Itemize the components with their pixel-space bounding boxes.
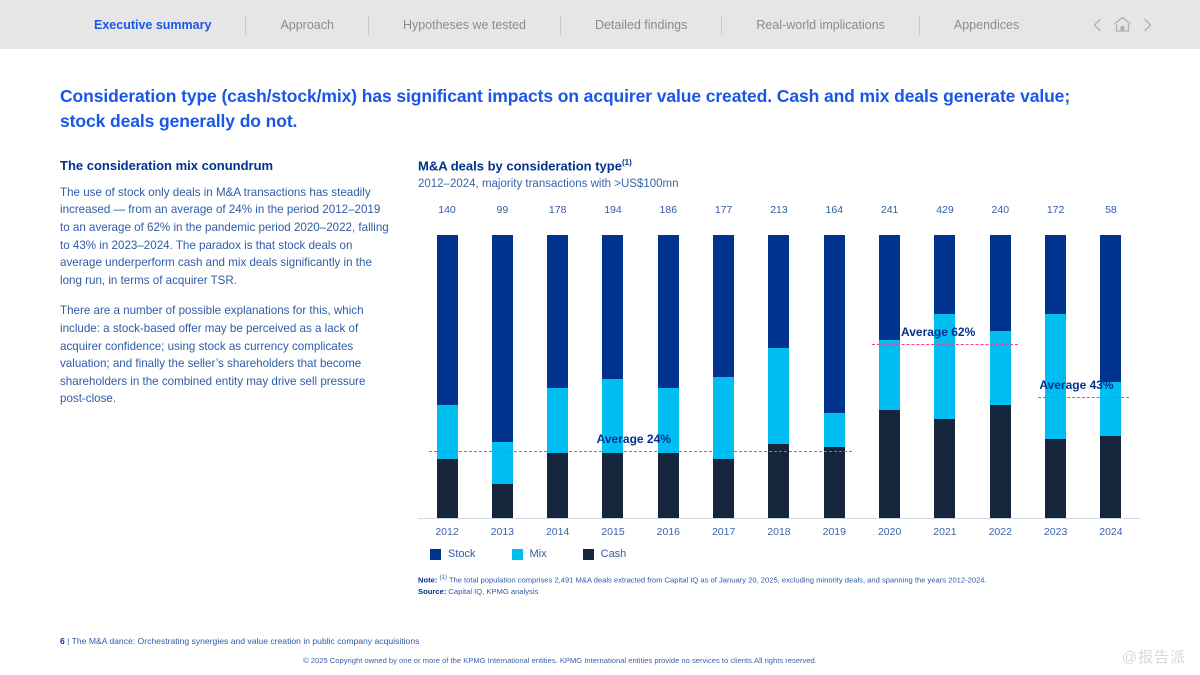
bar-segment-mix	[824, 413, 845, 447]
chevron-left-icon[interactable]	[1093, 18, 1102, 32]
bar-stack	[934, 235, 955, 518]
bar-segment-cash	[1045, 439, 1066, 518]
slide-page: Consideration type (cash/stock/mix) has …	[0, 84, 1200, 598]
x-axis-tick: 2024	[1088, 526, 1134, 538]
bar-stack	[768, 235, 789, 518]
footer-doc-line: 6 | The M&A dance: Orchestrating synergi…	[60, 636, 1140, 646]
bar-segment-stock	[658, 235, 679, 388]
x-axis-ticks: 2012201320142015201620172018201920202021…	[418, 526, 1140, 538]
bar-segment-cash	[768, 444, 789, 518]
x-axis-tick: 2021	[922, 526, 968, 538]
bar-stack	[547, 235, 568, 518]
chart-legend: StockMixCash	[418, 548, 1140, 560]
footer-copyright: © 2025 Copyright owned by one or more of…	[60, 656, 1140, 665]
bar-segment-stock	[934, 235, 955, 314]
bar-stack	[437, 235, 458, 518]
average-reference-line	[872, 344, 1019, 345]
bar-segment-cash	[547, 453, 568, 518]
legend-label: Stock	[448, 548, 476, 560]
bar-stack	[658, 235, 679, 518]
bar-column[interactable]: 241	[867, 204, 913, 518]
bar-segment-stock	[602, 235, 623, 379]
bar-stack	[713, 235, 734, 518]
legend-swatch-icon	[583, 549, 594, 560]
nav-item-executive-summary[interactable]: Executive summary	[60, 15, 246, 35]
legend-swatch-icon	[512, 549, 523, 560]
bar-segment-stock	[492, 235, 513, 442]
bar-column[interactable]: 194	[590, 204, 636, 518]
bar-segment-cash	[824, 447, 845, 518]
average-label: Average 24%	[597, 432, 671, 446]
bar-column[interactable]: 177	[701, 204, 747, 518]
page-footer: 6 | The M&A dance: Orchestrating synergi…	[0, 636, 1200, 675]
nav-items: Executive summaryApproachHypotheses we t…	[60, 15, 1093, 35]
bar-segment-cash	[437, 459, 458, 518]
x-axis-tick: 2020	[867, 526, 913, 538]
bar-value-label: 58	[1088, 204, 1134, 216]
bar-column[interactable]: 429	[922, 204, 968, 518]
bar-group: 1409917819418617721316424142924017258	[418, 204, 1140, 518]
bar-segment-mix	[768, 348, 789, 444]
nav-item-detailed-findings[interactable]: Detailed findings	[561, 15, 722, 35]
bar-column[interactable]: 213	[756, 204, 802, 518]
x-axis-tick: 2015	[590, 526, 636, 538]
bar-stack	[1045, 235, 1066, 518]
bar-value-label: 172	[1033, 204, 1079, 216]
x-axis-tick: 2018	[756, 526, 802, 538]
chart-title-text: M&A deals by consideration type	[418, 158, 622, 173]
legend-swatch-icon	[430, 549, 441, 560]
bar-value-label: 178	[535, 204, 581, 216]
bar-column[interactable]: 58	[1088, 204, 1134, 518]
note-footnote-marker: (1)	[440, 575, 447, 581]
nav-item-approach[interactable]: Approach	[246, 15, 369, 35]
chart-title: M&A deals by consideration type(1)	[418, 158, 1140, 173]
page-title: Consideration type (cash/stock/mix) has …	[60, 84, 1105, 134]
source-label: Source:	[418, 587, 446, 596]
note-text: The total population comprises 2,491 M&A…	[449, 576, 987, 585]
nav-item-hypotheses-we-tested[interactable]: Hypotheses we tested	[369, 15, 561, 35]
bar-stack	[990, 235, 1011, 518]
bar-segment-stock	[768, 235, 789, 348]
note-label: Note:	[418, 576, 437, 585]
left-text-column: The consideration mix conundrum The use …	[60, 158, 410, 598]
content-area: The consideration mix conundrum The use …	[60, 158, 1140, 598]
bar-value-label: 213	[756, 204, 802, 216]
watermark: @报告派	[1122, 646, 1186, 667]
bar-value-label: 194	[590, 204, 636, 216]
x-axis-tick: 2019	[811, 526, 857, 538]
bar-value-label: 164	[811, 204, 857, 216]
bar-value-label: 99	[479, 204, 525, 216]
x-axis-tick: 2017	[701, 526, 747, 538]
bar-segment-mix	[492, 442, 513, 484]
bar-segment-cash	[879, 410, 900, 518]
bar-segment-stock	[1100, 235, 1121, 382]
bar-column[interactable]: 172	[1033, 204, 1079, 518]
chart-note: Note: (1) The total population comprises…	[418, 574, 1140, 598]
footer-separator: |	[67, 636, 69, 646]
nav-item-appendices[interactable]: Appendices	[920, 15, 1053, 35]
bar-segment-cash	[658, 453, 679, 518]
page-number: 6	[60, 636, 65, 646]
bar-segment-stock	[879, 235, 900, 340]
bar-segment-mix	[879, 340, 900, 411]
chevron-right-icon[interactable]	[1143, 18, 1152, 32]
bar-segment-cash	[492, 484, 513, 518]
bar-segment-mix	[713, 377, 734, 459]
legend-label: Mix	[530, 548, 547, 560]
chart-subtitle: 2012–2024, majority transactions with >U…	[418, 178, 1140, 190]
chart-panel: M&A deals by consideration type(1) 2012–…	[410, 158, 1140, 598]
bar-segment-cash	[1100, 436, 1121, 518]
bar-segment-stock	[437, 235, 458, 405]
bar-segment-stock	[547, 235, 568, 388]
bar-segment-mix	[1045, 314, 1066, 439]
average-reference-line	[1038, 397, 1129, 398]
bar-stack	[602, 235, 623, 518]
body-paragraph-2: There are a number of possible explanati…	[60, 302, 392, 408]
x-axis-tick: 2014	[535, 526, 581, 538]
bar-column[interactable]: 140	[424, 204, 470, 518]
legend-item-stock[interactable]: Stock	[430, 548, 476, 560]
bar-stack	[492, 235, 513, 518]
source-text: Capital IQ, KPMG analysis	[448, 587, 538, 596]
bar-segment-stock	[713, 235, 734, 377]
average-label: Average 43%	[1039, 378, 1113, 392]
x-axis-tick: 2023	[1033, 526, 1079, 538]
chart-plot-area: 1409917819418617721316424142924017258 Av…	[418, 204, 1140, 519]
bar-segment-mix	[990, 331, 1011, 405]
source-line: Source: Capital IQ, KPMG analysis	[418, 586, 1140, 598]
bar-value-label: 177	[701, 204, 747, 216]
bar-value-label: 429	[922, 204, 968, 216]
average-reference-line	[429, 451, 852, 452]
x-axis-tick: 2016	[645, 526, 691, 538]
x-axis-tick: 2022	[977, 526, 1023, 538]
section-heading: The consideration mix conundrum	[60, 158, 392, 173]
nav-controls	[1093, 16, 1152, 33]
bar-segment-cash	[934, 419, 955, 518]
bar-segment-cash	[713, 459, 734, 518]
bar-column[interactable]: 178	[535, 204, 581, 518]
top-navigation-bar: Executive summaryApproachHypotheses we t…	[0, 0, 1200, 49]
average-label: Average 62%	[901, 325, 975, 339]
legend-item-mix[interactable]: Mix	[512, 548, 547, 560]
note-line: Note: (1) The total population comprises…	[418, 574, 1140, 586]
bar-column[interactable]: 186	[645, 204, 691, 518]
bar-stack	[1100, 235, 1121, 518]
bar-segment-cash	[602, 453, 623, 518]
bar-segment-stock	[990, 235, 1011, 331]
legend-label: Cash	[601, 548, 627, 560]
bar-segment-stock	[1045, 235, 1066, 314]
x-axis-tick: 2012	[424, 526, 470, 538]
bar-value-label: 186	[645, 204, 691, 216]
bar-value-label: 240	[977, 204, 1023, 216]
chart-title-footnote-marker: (1)	[622, 158, 632, 167]
bar-stack	[824, 235, 845, 518]
legend-item-cash[interactable]: Cash	[583, 548, 627, 560]
bar-segment-mix	[547, 388, 568, 453]
bar-value-label: 140	[424, 204, 470, 216]
home-icon[interactable]	[1113, 16, 1132, 33]
footer-doc-title: The M&A dance: Orchestrating synergies a…	[72, 636, 420, 646]
bar-segment-stock	[824, 235, 845, 413]
x-axis-tick: 2013	[479, 526, 525, 538]
bar-column[interactable]: 164	[811, 204, 857, 518]
bar-segment-cash	[990, 405, 1011, 518]
nav-item-real-world-implications[interactable]: Real-world implications	[722, 15, 920, 35]
bar-column[interactable]: 240	[977, 204, 1023, 518]
bar-value-label: 241	[867, 204, 913, 216]
bar-column[interactable]: 99	[479, 204, 525, 518]
body-paragraph-1: The use of stock only deals in M&A trans…	[60, 184, 392, 290]
bar-stack	[879, 235, 900, 518]
